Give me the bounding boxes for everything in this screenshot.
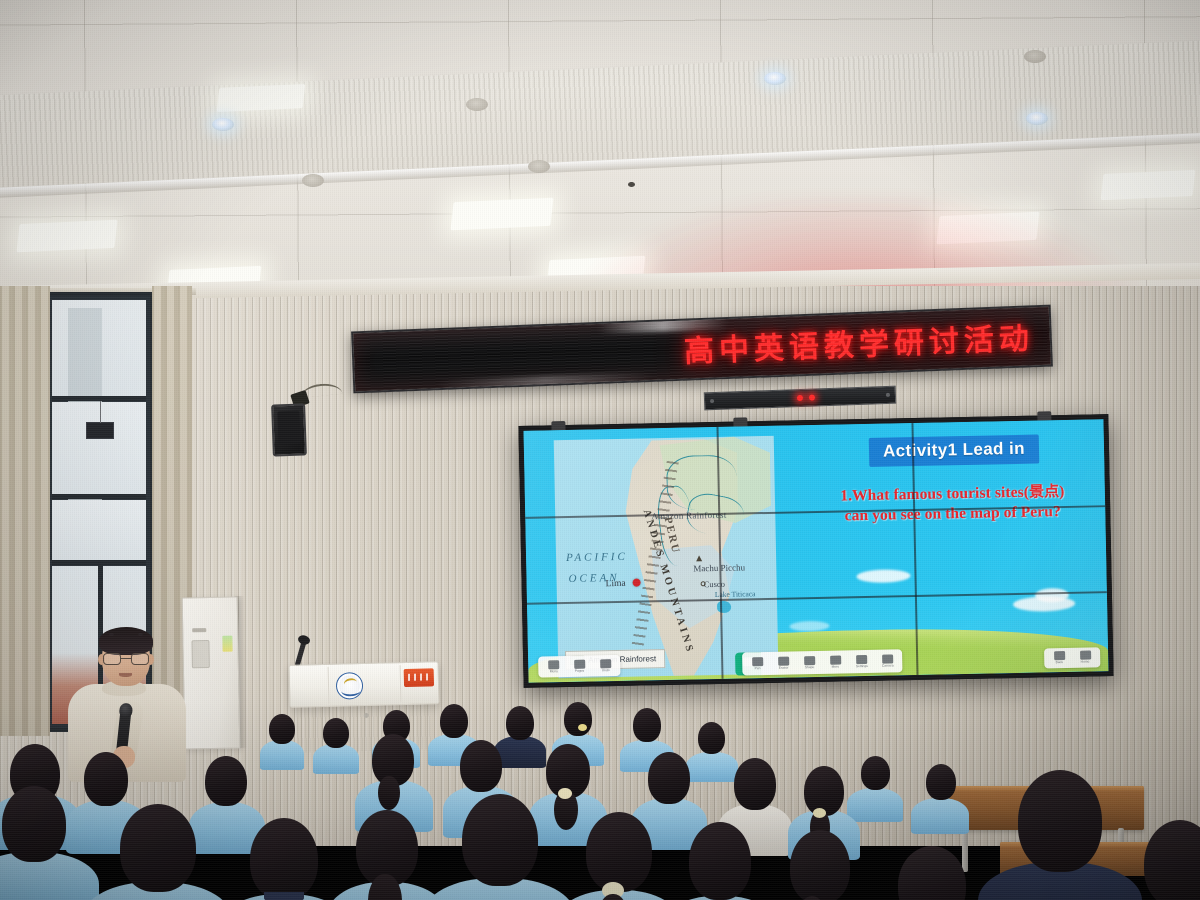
toolbar-label: Settings	[855, 665, 867, 669]
toolbar-label: Home	[1081, 661, 1090, 664]
ac-display-panel[interactable]	[191, 640, 209, 668]
whiteboard-toolbar-center[interactable]: Pen Eraser Shape More	[742, 649, 902, 675]
glasses-bridge	[121, 658, 131, 659]
toolbar-label: Pages	[575, 670, 584, 673]
toolbar-label: Menu	[549, 670, 557, 673]
ceiling-downlight	[302, 174, 324, 187]
menu-icon	[548, 660, 559, 669]
led-video-wall[interactable]: PACIFIC OCEAN Amazon Rainforest PERU AND…	[518, 414, 1113, 688]
podium-panel-divider	[328, 667, 330, 704]
toolbar-button-pages[interactable]: Pages	[566, 659, 592, 673]
display-bracket	[733, 417, 747, 426]
school-emblem-icon	[336, 672, 364, 700]
student-audience	[0, 700, 1200, 900]
home-icon	[1080, 651, 1091, 660]
presenter-eye	[138, 633, 143, 636]
ceiling-downlight	[528, 160, 550, 173]
status-led	[809, 394, 815, 400]
display-bracket	[1037, 411, 1051, 420]
peru-map-image: PACIFIC OCEAN Amazon Rainforest PERU AND…	[554, 436, 779, 678]
map-label-pacific: PACIFIC	[566, 551, 628, 564]
question-line1-suffix: )	[1059, 483, 1065, 500]
podium-panel-divider	[400, 665, 402, 702]
ceiling-panel-light	[450, 198, 553, 231]
curtain-left[interactable]	[0, 286, 50, 736]
toolbar-button-menu[interactable]: Menu	[540, 660, 566, 674]
window-pane	[52, 402, 146, 494]
display-bracket	[551, 421, 565, 430]
hanging-sign	[86, 422, 114, 439]
ceiling-panel-light	[217, 84, 306, 112]
slide-question: 1.What famous tourist sites(景点) can you …	[795, 481, 1109, 527]
map-label-cusco: Cusco	[704, 579, 725, 589]
glasses-icon	[102, 653, 150, 665]
ac-energy-label	[222, 636, 232, 652]
wall-speaker	[271, 403, 307, 456]
presentation-slide: PACIFIC OCEAN Amazon Rainforest PERU AND…	[524, 419, 1109, 683]
toolbar-label: Shape	[805, 666, 815, 669]
map-marker-cusco	[701, 581, 706, 586]
toolbar-button-eraser[interactable]: Eraser	[770, 656, 796, 670]
audience-depth-shading	[0, 700, 1200, 900]
presenter-eye	[109, 633, 114, 636]
shape-icon	[804, 656, 815, 665]
toolbar-button-home[interactable]: Home	[1072, 651, 1098, 665]
map-label-lima: Lima	[606, 579, 626, 589]
glasses-lens	[103, 653, 121, 665]
window-pane	[52, 500, 146, 560]
pages-icon	[574, 659, 585, 668]
eraser-icon	[778, 656, 789, 665]
toolbar-button-camera[interactable]: Camera	[874, 654, 900, 668]
toolbar-button-more[interactable]: More	[822, 655, 848, 669]
window-pane	[52, 300, 146, 396]
window-mullion	[52, 396, 146, 401]
toolbar-label: More	[832, 665, 840, 668]
toolbar-label: Camera	[881, 664, 893, 668]
whiteboard-toolbar-right[interactable]: Back Home	[1044, 647, 1100, 668]
question-chinese-gloss: 景点	[1029, 482, 1060, 501]
glasses-lens	[131, 653, 149, 665]
whiteboard-toolbar-left[interactable]: Menu Pages Undo	[538, 655, 620, 678]
cloud-decor	[789, 621, 829, 632]
toolbar-button-pen[interactable]: Pen	[744, 657, 770, 671]
pen-icon	[752, 657, 763, 666]
lecture-hall-scene: 高中英语教学研讨活动	[0, 0, 1200, 900]
ceiling-downlight	[1026, 112, 1048, 125]
display-surface: PACIFIC OCEAN Amazon Rainforest PERU AND…	[524, 419, 1109, 683]
more-icon	[830, 655, 841, 664]
ac-brand-logo	[192, 628, 206, 632]
presenter-hair	[99, 627, 153, 655]
map-marker-lima	[633, 579, 641, 587]
cloud-decor	[856, 569, 910, 583]
ceiling-downlight	[1024, 50, 1046, 63]
map-marker-machu-picchu	[696, 555, 702, 561]
toolbar-label: Back	[1056, 661, 1063, 664]
presenter-mouth	[119, 673, 132, 677]
ceiling-panel-light	[16, 220, 117, 253]
status-led	[797, 395, 803, 401]
ceiling-downlight	[212, 118, 234, 131]
mount-screw	[886, 393, 890, 397]
toolbar-button-back[interactable]: Back	[1046, 651, 1072, 665]
podium-accent-panel	[404, 668, 434, 687]
slide-activity-badge: Activity1 Lead in	[869, 435, 1039, 467]
mount-screw	[710, 399, 714, 403]
ceiling-downlight	[764, 72, 786, 85]
toolbar-label: Pen	[754, 667, 760, 670]
toolbar-button-shape[interactable]: Shape	[796, 656, 822, 670]
led-banner-text: 高中英语教学研讨活动	[683, 313, 1034, 370]
window-mullion	[52, 494, 146, 499]
camera-icon	[882, 654, 893, 663]
ceiling-downlight	[466, 98, 488, 111]
toolbar-label: Undo	[601, 669, 609, 672]
undo-icon	[600, 659, 611, 668]
ceiling-smoke-sensor	[628, 182, 635, 187]
back-arrow-icon	[1054, 651, 1065, 660]
toolbar-button-undo[interactable]: Undo	[592, 659, 618, 673]
toolbar-label: Eraser	[778, 666, 788, 670]
question-line1-prefix: 1.What famous tourist sites(	[840, 484, 1029, 505]
toolbar-button-settings[interactable]: Settings	[848, 655, 874, 669]
gear-icon	[856, 655, 867, 664]
